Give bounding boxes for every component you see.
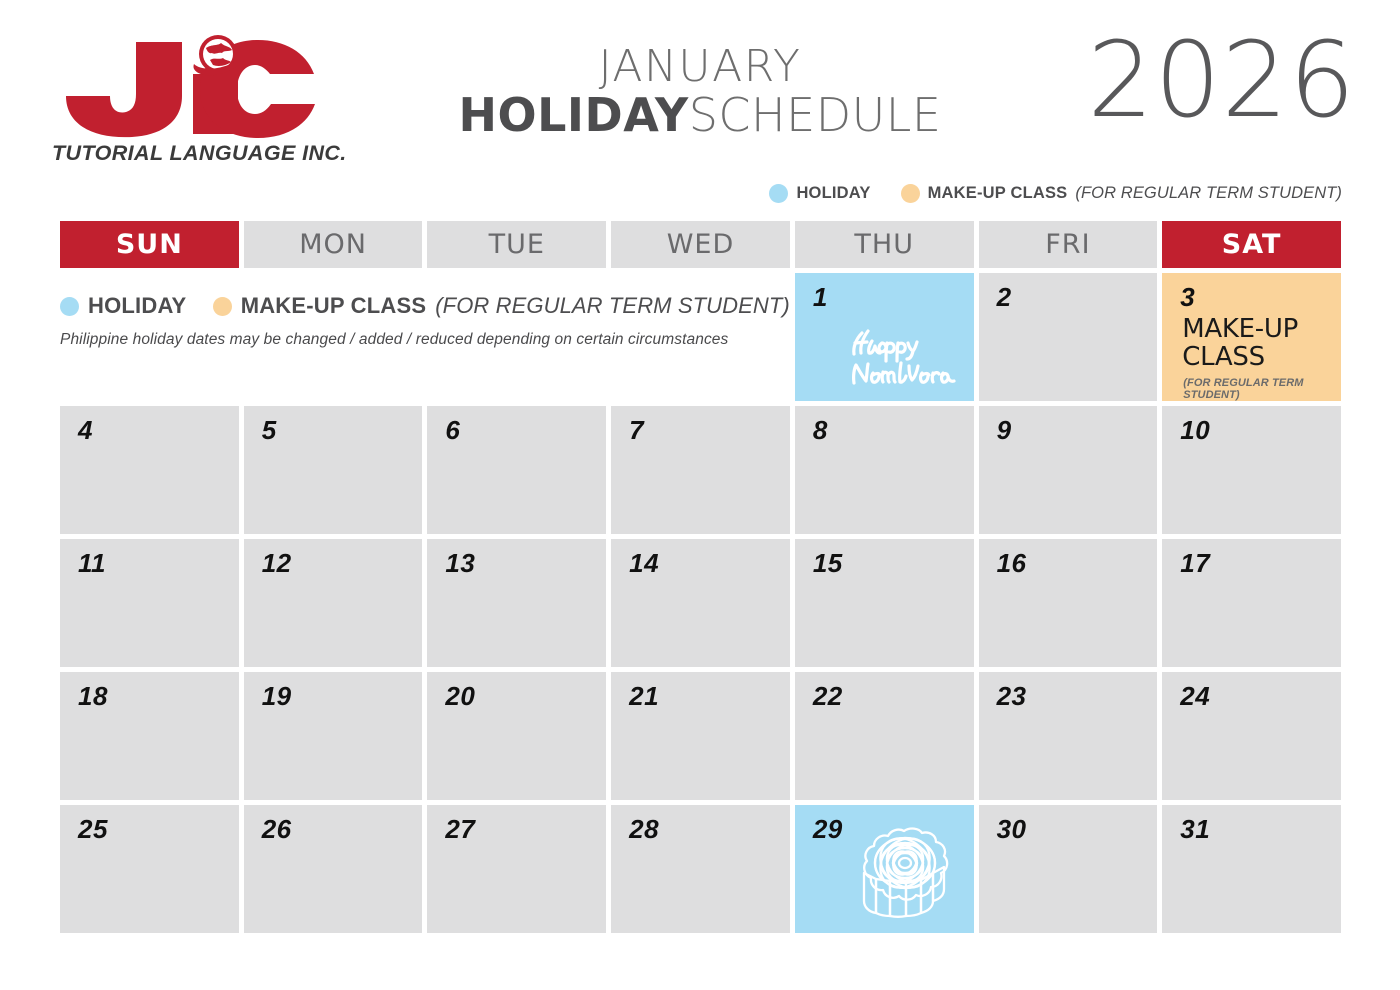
day-cell-25[interactable]: 25 [60, 805, 239, 933]
day-number: 6 [445, 415, 460, 446]
title-month: JANUARY [430, 44, 970, 90]
legend-disclaimer: Philippine holiday dates may be changed … [60, 331, 790, 349]
day-cell-31[interactable]: 31 [1162, 805, 1341, 933]
day-number: 19 [262, 681, 292, 712]
day-cell-16[interactable]: 16 [979, 539, 1158, 667]
day-cell-14[interactable]: 14 [611, 539, 790, 667]
day-cell-24[interactable]: 24 [1162, 672, 1341, 800]
day-cell-9[interactable]: 9 [979, 406, 1158, 534]
day-number: 8 [813, 415, 828, 446]
holiday-color-dot-icon [769, 184, 788, 203]
day-number: 29 [813, 814, 843, 845]
holiday-color-dot-icon [60, 297, 79, 316]
title-holiday: HOLIDAY [459, 88, 689, 142]
weekday-sat: SAT [1162, 221, 1341, 268]
day-cell-12[interactable]: 12 [244, 539, 423, 667]
legend-inline-row: HOLIDAY MAKE-UP CLASS (FOR REGULAR TERM … [60, 293, 790, 319]
day-number: 16 [997, 548, 1027, 579]
day-number: 10 [1180, 415, 1210, 446]
jic-logo-mark [52, 34, 322, 139]
day-number: 26 [262, 814, 292, 845]
day-number: 18 [78, 681, 108, 712]
day-cell-3[interactable]: 3 MAKE-UPCLASS (FOR REGULAR TERM STUDENT… [1162, 273, 1341, 401]
calendar-week-1: HOLIDAY MAKE-UP CLASS (FOR REGULAR TERM … [60, 273, 1341, 401]
makeup-color-dot-icon [901, 184, 920, 203]
day-cell-30[interactable]: 30 [979, 805, 1158, 933]
day-number: 22 [813, 681, 843, 712]
day-number: 25 [78, 814, 108, 845]
page-title: JANUARY HOLIDAYSCHEDULE [430, 44, 970, 142]
holiday-legend-label: HOLIDAY [796, 184, 870, 203]
day-number: 12 [262, 548, 292, 579]
calendar-week-2: 4 5 6 7 8 9 10 [60, 406, 1341, 534]
day-number: 27 [445, 814, 475, 845]
day-cell-26[interactable]: 26 [244, 805, 423, 933]
legend-top: HOLIDAY MAKE-UP CLASS (FOR REGULAR TERM … [769, 184, 1342, 203]
day-cell-28[interactable]: 28 [611, 805, 790, 933]
day-cell-5[interactable]: 5 [244, 406, 423, 534]
day-number: 24 [1180, 681, 1210, 712]
makeup-legend-note: (FOR REGULAR TERM STUDENT) [435, 293, 790, 319]
day-cell-15[interactable]: 15 [795, 539, 974, 667]
mooncake-icon [852, 823, 958, 927]
legend-inline-block: HOLIDAY MAKE-UP CLASS (FOR REGULAR TERM … [60, 273, 790, 401]
weekday-header-row: SUN MON TUE WED THU FRI SAT [60, 221, 1341, 268]
year-label: 2026 [1087, 28, 1356, 132]
day-cell-21[interactable]: 21 [611, 672, 790, 800]
day-cell-19[interactable]: 19 [244, 672, 423, 800]
makeup-legend-label: MAKE-UP CLASS [241, 293, 427, 319]
day-cell-17[interactable]: 17 [1162, 539, 1341, 667]
day-number: 20 [445, 681, 475, 712]
page-header: TUTORIAL LANGUAGE INC. JANUARY HOLIDAYSC… [0, 0, 1400, 215]
day-number: 14 [629, 548, 659, 579]
calendar-week-3: 11 12 13 14 15 16 17 [60, 539, 1341, 667]
makeup-class-label: MAKE-UPCLASS [1182, 315, 1298, 371]
legend-inline: HOLIDAY MAKE-UP CLASS (FOR REGULAR TERM … [60, 273, 790, 349]
new-year-script-icon [842, 321, 962, 393]
day-number: 11 [78, 548, 106, 579]
day-cell-6[interactable]: 6 [427, 406, 606, 534]
calendar-week-5: 25 26 27 28 29 [60, 805, 1341, 933]
day-number: 17 [1180, 548, 1210, 579]
day-number: 31 [1180, 814, 1210, 845]
day-number: 2 [997, 282, 1012, 313]
day-cell-29[interactable]: 29 [795, 805, 974, 933]
day-number: 21 [629, 681, 659, 712]
weekday-sun: SUN [60, 221, 239, 268]
day-cell-1[interactable]: 1 [795, 273, 974, 401]
makeup-line-1: MAKE-UP [1182, 314, 1298, 344]
day-number: 23 [997, 681, 1027, 712]
day-number: 5 [262, 415, 277, 446]
day-cell-8[interactable]: 8 [795, 406, 974, 534]
day-cell-22[interactable]: 22 [795, 672, 974, 800]
weekday-mon: MON [244, 221, 423, 268]
jic-logo-svg [52, 34, 322, 139]
makeup-legend-note: (FOR REGULAR TERM STUDENT) [1075, 184, 1342, 203]
holiday-legend-label: HOLIDAY [88, 293, 186, 319]
day-number: 13 [445, 548, 475, 579]
day-cell-11[interactable]: 11 [60, 539, 239, 667]
day-number: 9 [997, 415, 1012, 446]
title-schedule: SCHEDULE [689, 88, 942, 142]
weekday-fri: FRI [979, 221, 1158, 268]
weekday-tue: TUE [427, 221, 606, 268]
calendar-grid: SUN MON TUE WED THU FRI SAT HOLIDAY MAKE… [60, 221, 1341, 938]
makeup-color-dot-icon [213, 297, 232, 316]
day-number: 4 [78, 415, 93, 446]
day-cell-10[interactable]: 10 [1162, 406, 1341, 534]
brand-logo: TUTORIAL LANGUAGE INC. [52, 34, 352, 166]
day-cell-20[interactable]: 20 [427, 672, 606, 800]
makeup-class-note: (FOR REGULAR TERM STUDENT) [1183, 377, 1341, 401]
day-cell-13[interactable]: 13 [427, 539, 606, 667]
day-number: 15 [813, 548, 843, 579]
weekday-thu: THU [795, 221, 974, 268]
day-cell-7[interactable]: 7 [611, 406, 790, 534]
day-number: 1 [813, 282, 828, 313]
day-cell-4[interactable]: 4 [60, 406, 239, 534]
day-number: 30 [997, 814, 1027, 845]
day-cell-23[interactable]: 23 [979, 672, 1158, 800]
day-cell-18[interactable]: 18 [60, 672, 239, 800]
day-number: 3 [1180, 282, 1195, 313]
day-number: 28 [629, 814, 659, 845]
day-number: 7 [629, 415, 644, 446]
calendar-week-4: 18 19 20 21 22 23 24 [60, 672, 1341, 800]
weekday-wed: WED [611, 221, 790, 268]
day-cell-2[interactable]: 2 [979, 273, 1158, 401]
day-cell-27[interactable]: 27 [427, 805, 606, 933]
title-main: HOLIDAYSCHEDULE [430, 90, 970, 142]
makeup-legend-label: MAKE-UP CLASS [928, 184, 1068, 203]
makeup-line-2: CLASS [1182, 342, 1265, 372]
brand-tagline: TUTORIAL LANGUAGE INC. [52, 141, 352, 166]
